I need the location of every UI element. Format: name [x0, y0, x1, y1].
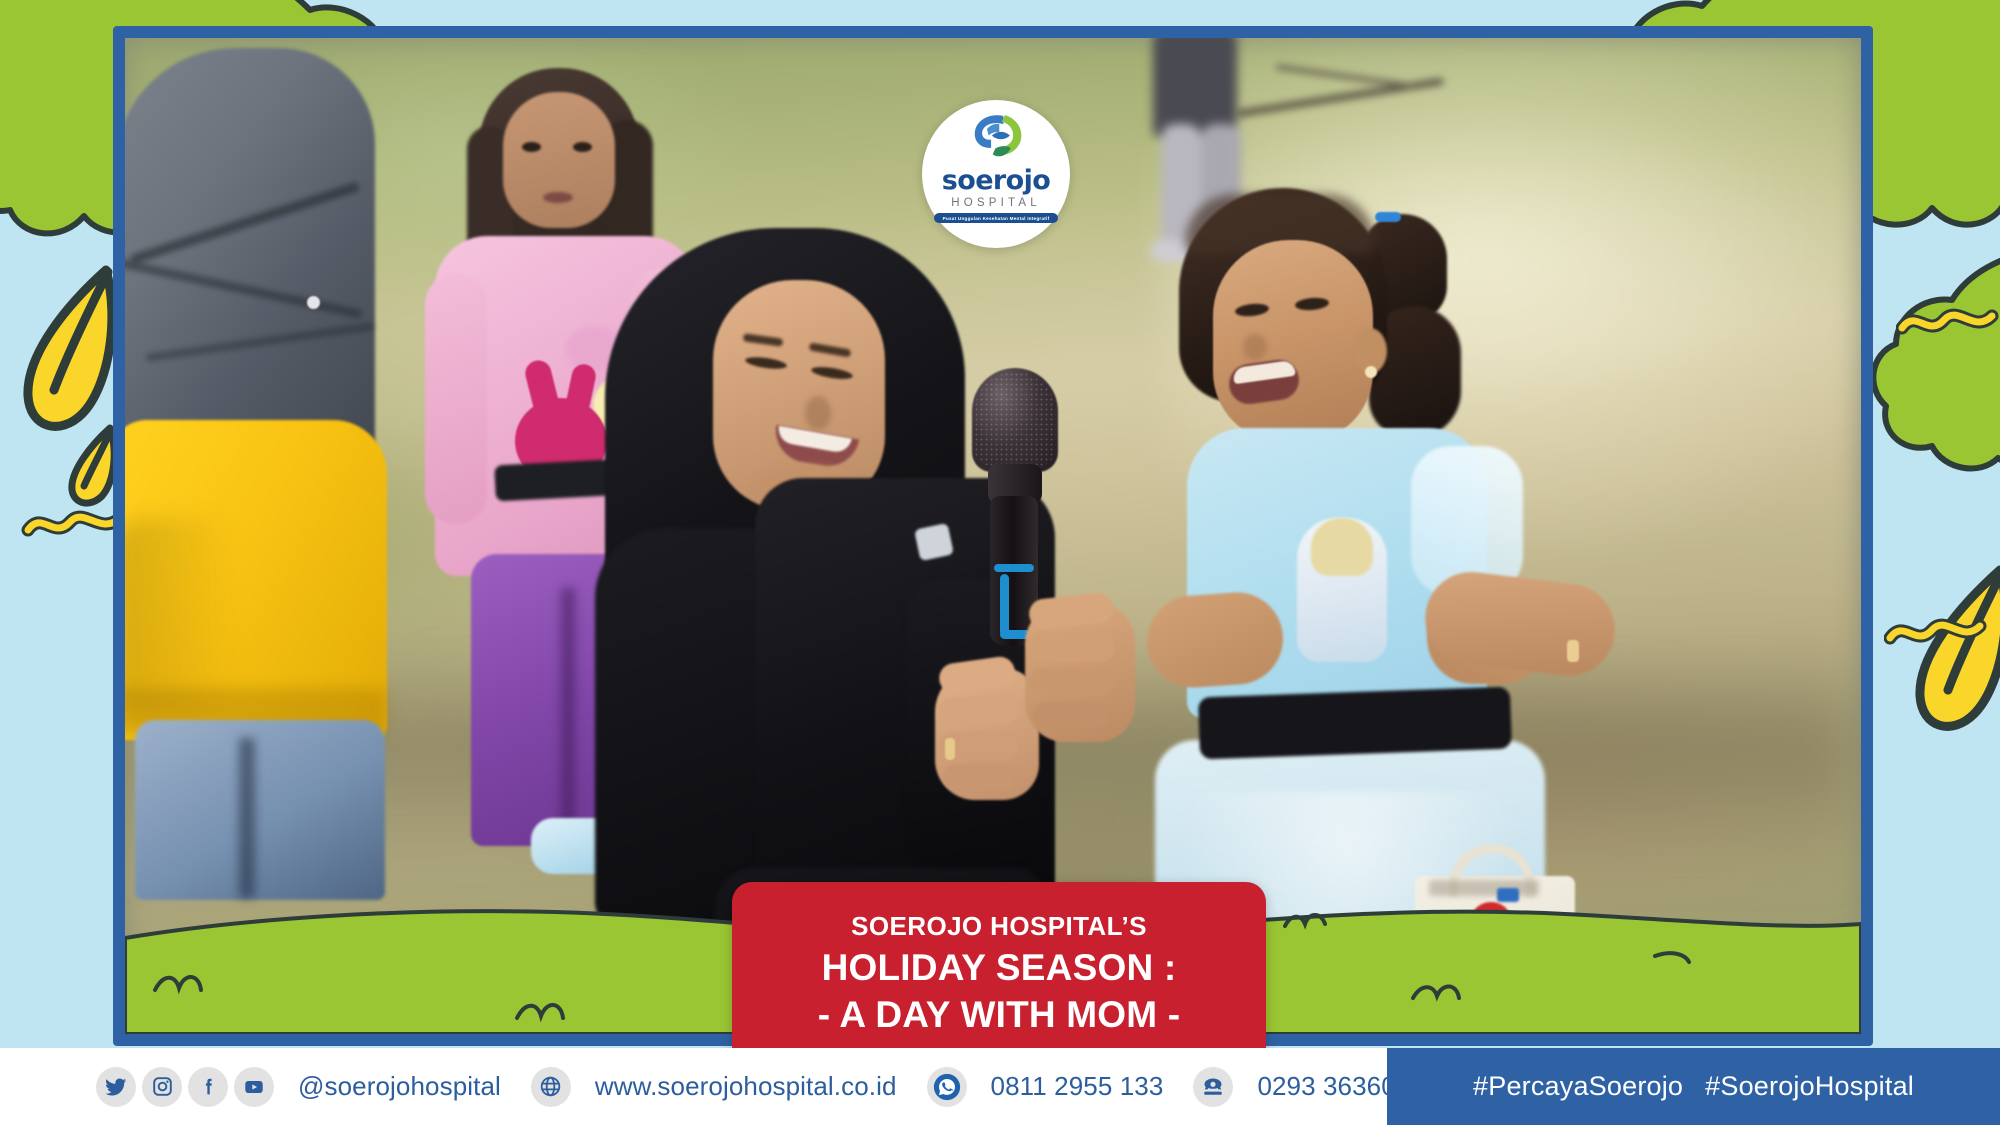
youtube-icon[interactable]	[234, 1067, 274, 1107]
yellow-leaf-large-left	[10, 256, 128, 451]
logo-subtitle: HOSPITAL	[951, 197, 1041, 209]
whatsapp-icon[interactable]	[927, 1067, 967, 1107]
yellow-squiggle-right-bottom	[1884, 610, 1988, 661]
social-handle: @soerojohospital	[298, 1071, 501, 1102]
whatsapp-number: 0811 2955 133	[991, 1071, 1164, 1102]
hashtag-percaya-soerojo: #PercayaSoerojo	[1473, 1071, 1683, 1102]
facebook-icon[interactable]	[188, 1067, 228, 1107]
yellow-leaf-right	[1900, 560, 2000, 745]
hashtag-bar: #PercayaSoerojo #SoerojoHospital	[1387, 1048, 2000, 1125]
telephone-icon[interactable]	[1193, 1067, 1233, 1107]
logo-wordmark: soerojo	[942, 167, 1050, 194]
logo-tagline: Pusat Unggulan Kesehatan Mental Integrat…	[934, 213, 1059, 223]
childs-hand-on-microphone	[1005, 578, 1155, 768]
footer-bar: @soerojohospital www.soerojohospital.co.…	[0, 1048, 2000, 1125]
website-url: www.soerojohospital.co.id	[595, 1071, 897, 1102]
poster-canvas: soerojo HOSPITAL Pusat Unggulan Kesehata…	[0, 0, 2000, 1125]
womans-arm-around-child	[1425, 578, 1615, 708]
banner-line-2: HOLIDAY SEASON :	[822, 945, 1177, 991]
event-title-banner: SOEROJO HOSPITAL’S HOLIDAY SEASON : - A …	[732, 882, 1266, 1070]
twitter-icon[interactable]	[96, 1067, 136, 1107]
instagram-icon[interactable]	[142, 1067, 182, 1107]
soerojo-swirl-mark	[967, 111, 1025, 165]
soerojo-hospital-logo: soerojo HOSPITAL Pusat Unggulan Kesehata…	[922, 100, 1070, 248]
yellow-squiggle-right-top	[1896, 300, 2000, 351]
banner-line-1: SOEROJO HOSPITAL’S	[851, 910, 1147, 943]
contact-strip: @soerojohospital www.soerojohospital.co.…	[0, 1048, 1410, 1125]
adult-in-yellow-jacket	[125, 48, 405, 868]
hashtag-soerojo-hospital: #SoerojoHospital	[1705, 1071, 1914, 1102]
banner-line-3: - A DAY WITH MOM -	[818, 992, 1181, 1038]
globe-icon[interactable]	[531, 1067, 571, 1107]
